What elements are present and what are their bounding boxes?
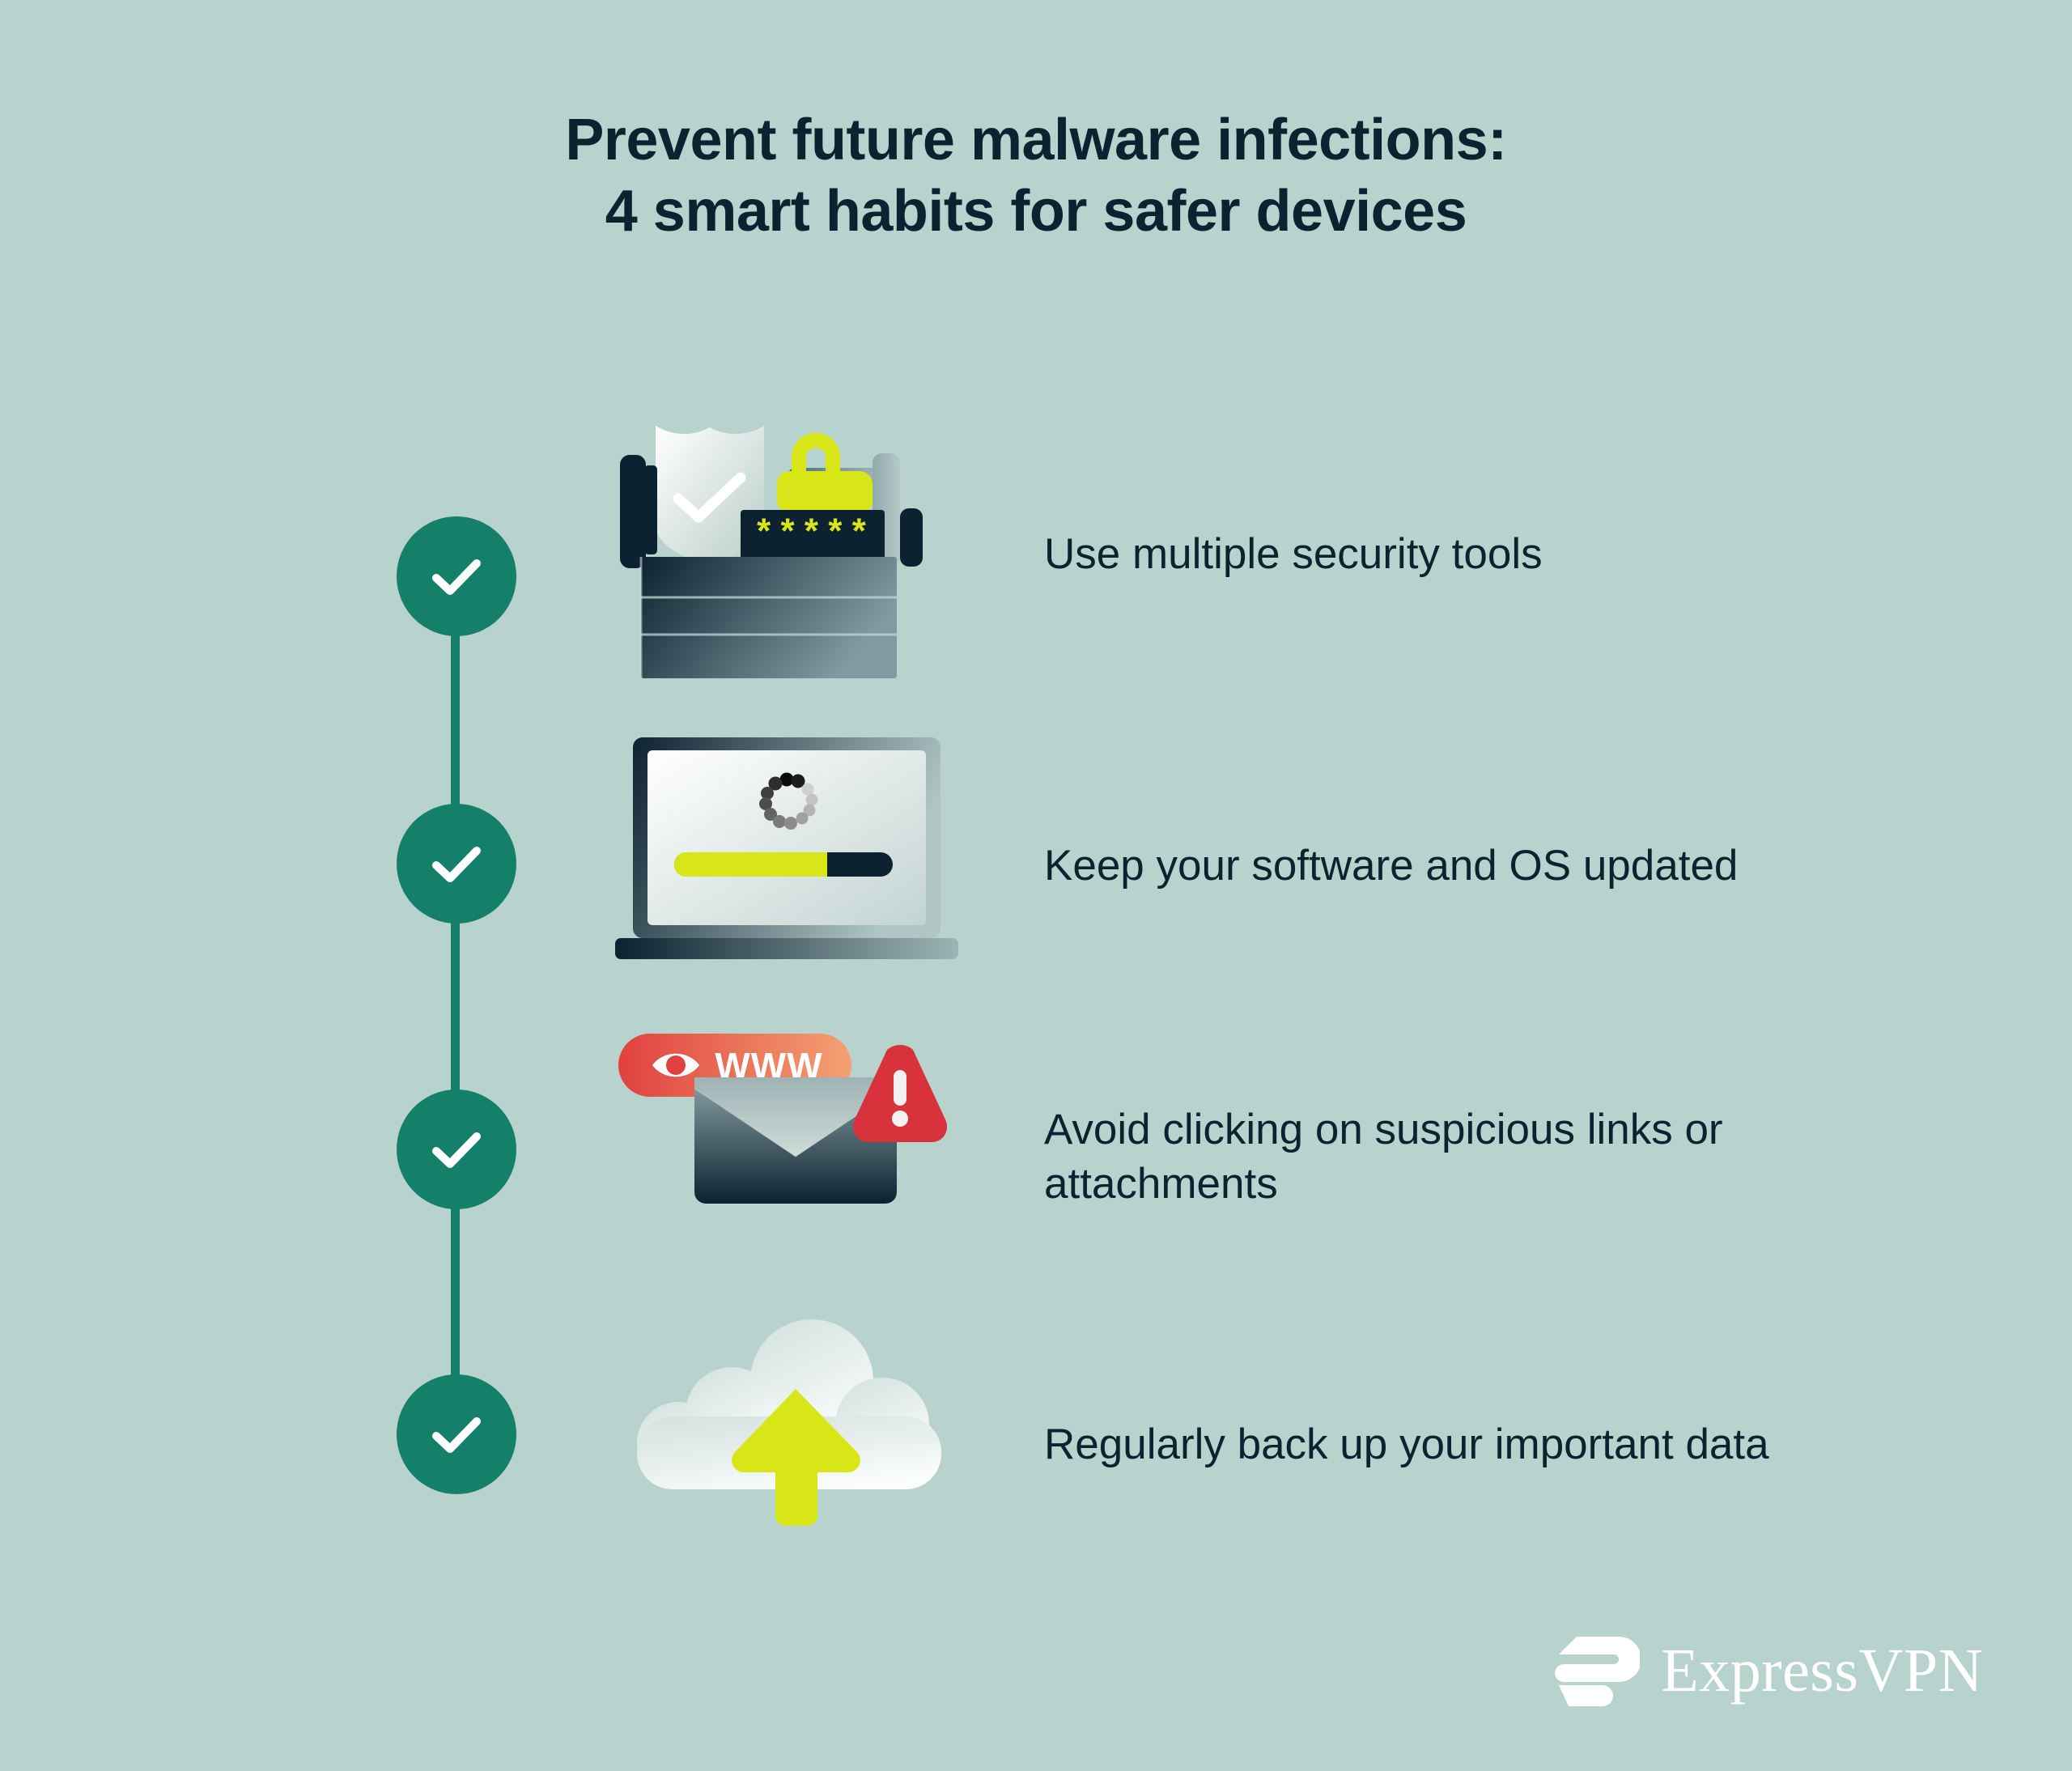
checkmark-icon xyxy=(427,1404,486,1464)
step-label-4: Regularly back up your important data xyxy=(1044,1418,1769,1472)
suspicious-email-icon: WWW xyxy=(615,1024,979,1291)
expressvpn-logo: ExpressVPN xyxy=(1552,1627,1983,1714)
warning-triangle-icon xyxy=(853,1045,947,1142)
expressvpn-logo-mark xyxy=(1552,1627,1640,1714)
step-row-1: ***** Use multiple security tools xyxy=(615,421,1991,688)
page-title-line-2: 4 smart habits for safer devices xyxy=(0,176,2072,248)
password-mask-text: ***** xyxy=(753,515,872,555)
step-label-3: Avoid clicking on suspicious links or at… xyxy=(1044,1103,1853,1212)
timeline-checkmark-node-3 xyxy=(397,1089,516,1209)
cloud-backup-icon xyxy=(615,1311,979,1578)
step-label-1: Use multiple security tools xyxy=(1044,528,1543,582)
timeline-checkmark-node-1 xyxy=(397,516,516,636)
step-row-3: WWW Avoid clicking on suspicious links o… xyxy=(615,1024,1991,1291)
checkmark-icon xyxy=(427,546,486,606)
step-row-2: Keep your software and OS updated xyxy=(615,733,1991,1000)
step-label-2: Keep your software and OS updated xyxy=(1044,839,1738,894)
expressvpn-logo-text: ExpressVPN xyxy=(1661,1640,1983,1701)
toolbox-security-icon: ***** xyxy=(615,421,979,688)
steps-timeline xyxy=(366,502,512,1522)
progress-bar xyxy=(674,852,893,877)
step-row-4: Regularly back up your important data xyxy=(615,1311,1991,1578)
timeline-connector-line xyxy=(451,575,460,1457)
checkmark-icon xyxy=(427,1119,486,1179)
page-title-line-1: Prevent future malware infections: xyxy=(0,105,2072,176)
laptop-update-icon xyxy=(615,733,979,1000)
timeline-checkmark-node-2 xyxy=(397,804,516,924)
checkmark-icon xyxy=(427,834,486,894)
page-title: Prevent future malware infections: 4 sma… xyxy=(0,105,2072,248)
timeline-checkmark-node-4 xyxy=(397,1374,516,1494)
